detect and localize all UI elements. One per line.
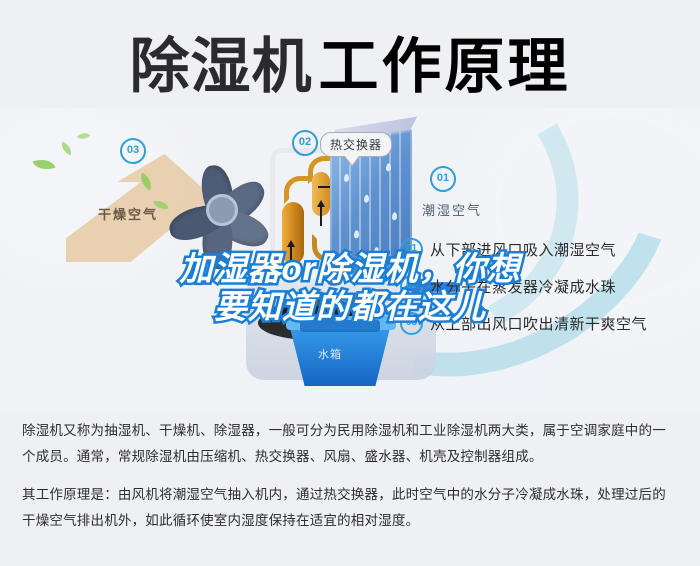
legend-text: 从下部进风口吸入潮湿空气 bbox=[430, 239, 616, 260]
humid-air-label: 潮湿空气 bbox=[422, 200, 482, 219]
fan-hub bbox=[206, 194, 238, 226]
water-tank-label: 水箱 bbox=[318, 346, 342, 362]
body-paragraph-1: 除湿机又称为抽湿机、干燥机、除湿器，一般可分为民用除湿机和工业除湿机两大类，属于… bbox=[22, 418, 678, 470]
body-text-section: 除湿机又称为抽湿机、干燥机、除湿器，一般可分为民用除湿机和工业除湿机两大类，属于… bbox=[0, 418, 700, 546]
legend-text: 从上部出风口吹出清新干爽空气 bbox=[430, 313, 647, 334]
flow-arrow-head-icon bbox=[317, 200, 325, 207]
step-badge-03: 03 bbox=[120, 138, 146, 164]
dry-air-label: 干燥空气 bbox=[98, 204, 158, 223]
body-paragraph-2: 其工作原理是：由风机将潮湿空气抽入机内，通过热交换器，此时空气中的水分子冷凝成水… bbox=[22, 482, 678, 534]
flow-arrow-icon bbox=[320, 206, 322, 226]
water-tank-opening bbox=[300, 320, 380, 332]
page-title-text: 除湿机工作原理 bbox=[130, 37, 571, 97]
step-badge-01: 01 bbox=[430, 166, 456, 192]
legend-badge: 03 bbox=[400, 312, 423, 335]
title-part-2: 工作原理 bbox=[319, 33, 571, 100]
page-root: 除湿机工作原理 干燥空气 bbox=[0, 0, 700, 566]
legend-item: 03 从上部出风口吹出清新干爽空气 bbox=[400, 312, 692, 335]
compressor-cylinder bbox=[282, 202, 304, 264]
title-part-1: 除湿机 bbox=[130, 33, 313, 100]
legend-item: 01 从下部进风口吸入潮湿空气 bbox=[400, 238, 692, 261]
legend-badge: 02 bbox=[400, 275, 423, 298]
heat-exchanger-callout: 热交换器 bbox=[320, 132, 392, 157]
step-badge-02: 02 bbox=[292, 130, 318, 156]
legend-badge: 01 bbox=[400, 238, 423, 261]
illustration-panel: 干燥空气 bbox=[0, 108, 700, 413]
page-title: 除湿机工作原理 bbox=[0, 32, 700, 102]
flow-arrow-head-icon bbox=[287, 240, 295, 247]
legend-item: 02 水分子在蒸发器冷凝成水珠 bbox=[400, 275, 692, 298]
legend-list: 01 从下部进风口吸入潮湿空气 02 水分子在蒸发器冷凝成水珠 03 从上部出风… bbox=[400, 238, 692, 349]
legend-text: 水分子在蒸发器冷凝成水珠 bbox=[430, 276, 616, 297]
flow-arrow-icon bbox=[290, 246, 292, 264]
fan-icon bbox=[166, 156, 284, 264]
